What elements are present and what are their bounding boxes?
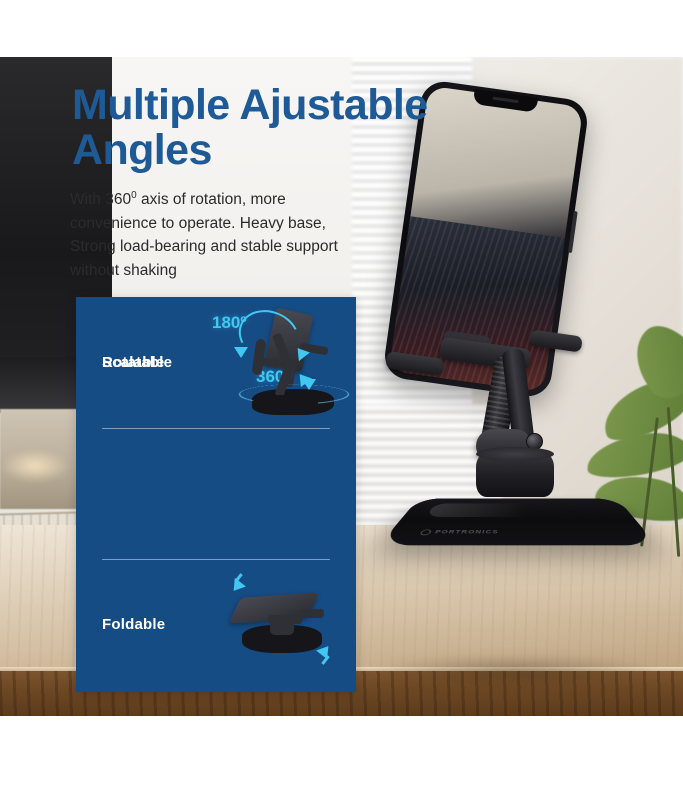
body-copy-before: With 360 (70, 191, 131, 208)
mini-grip (300, 609, 324, 618)
brand-name: PORTRONICS (434, 530, 499, 535)
headline-line-2: Angles (72, 128, 542, 173)
feature-label-foldable: Foldable (76, 616, 208, 633)
feature-panel: Rotatable 360º Foldable (76, 297, 356, 692)
tilt-arrow-icon (234, 347, 248, 358)
phone-side-button (568, 211, 578, 253)
feature-row-scalable: Scalable 180º (76, 297, 356, 428)
body-copy: With 3600 axis of rotation, more conveni… (70, 188, 370, 282)
floor-area (0, 716, 683, 740)
feature-label-scalable: Scalable (76, 354, 208, 371)
mini-hub (270, 619, 294, 635)
page-title: Multiple Ajustable Angles (72, 83, 542, 173)
tilt-arc-icon (231, 301, 307, 371)
product-marketing-image: PORTRONICS Multiple Ajustable Angles Wit… (0, 0, 683, 800)
brand-mark-icon (419, 530, 433, 536)
mini-base (252, 395, 318, 415)
feature-divider (102, 428, 330, 429)
desk-light-glow (0, 449, 70, 483)
feature-illustration-scalable: 180º (208, 297, 356, 428)
fold-arrow-down-icon (228, 578, 246, 595)
feature-divider (102, 559, 330, 560)
extend-arrow-icon (294, 370, 312, 387)
feature-row-foldable: Foldable (76, 559, 356, 690)
brand-logo: PORTRONICS (419, 530, 499, 536)
stand-rotating-hub (476, 453, 554, 497)
headline-line-1: Multiple Ajustable (72, 83, 542, 128)
base-sheen (426, 503, 569, 517)
mini-arm-lower (274, 362, 294, 397)
stand-cast-shadow (370, 655, 660, 689)
feature-illustration-foldable (208, 559, 356, 690)
